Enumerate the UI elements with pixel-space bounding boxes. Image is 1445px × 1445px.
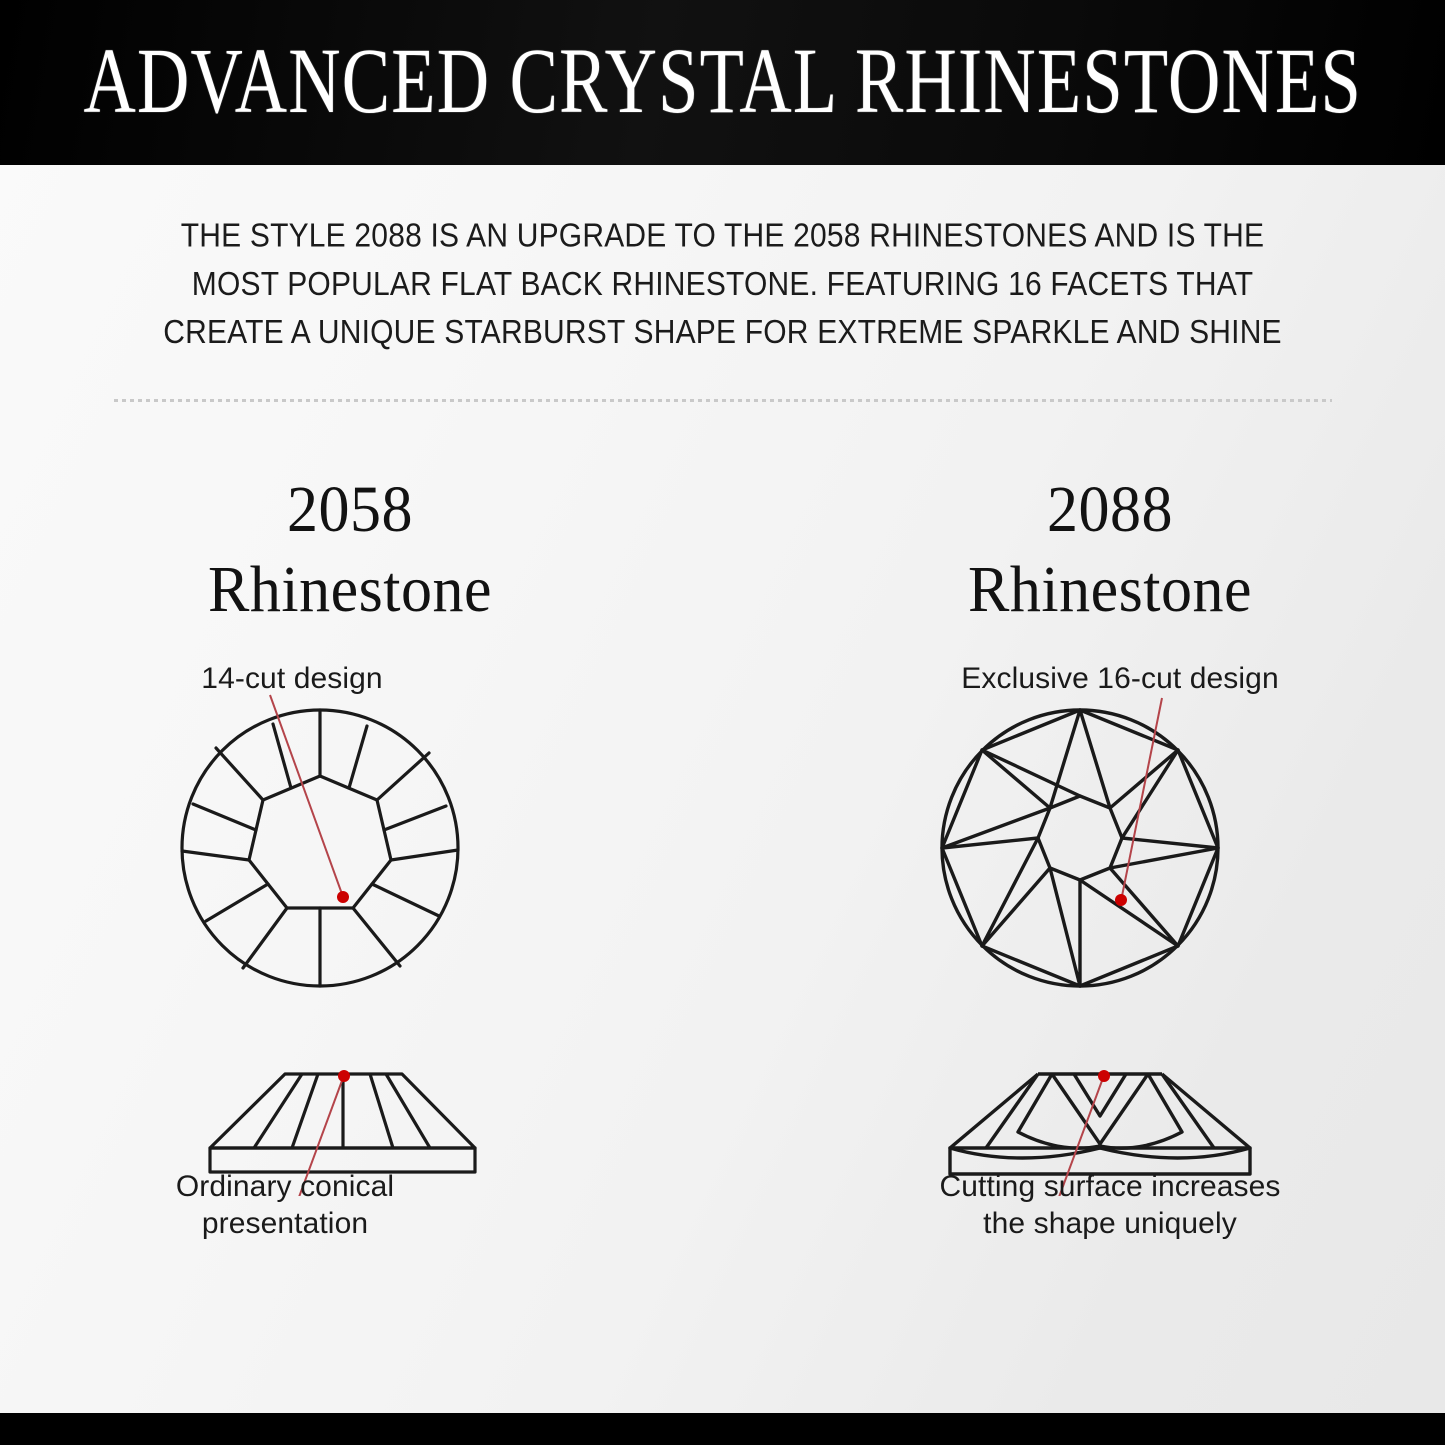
label-cutting-surface: Cutting surface increases the shape uniq… <box>810 1168 1410 1242</box>
section-divider <box>114 399 1332 402</box>
leader-marker-2088-side <box>1098 1070 1110 1082</box>
header-banner: ADVANCED CRYSTAL RHINESTONES <box>0 0 1445 165</box>
leader-line-2058-top <box>270 695 342 894</box>
label-exclusive-16-cut-design: Exclusive 16-cut design <box>840 660 1400 697</box>
diagram-2088: Exclusive 16-cut design <box>790 648 1430 1258</box>
leader-line-2088-top <box>1122 698 1162 896</box>
footer-bar <box>0 1413 1445 1445</box>
column-title-2058: 2058 Rhinestone <box>30 470 670 630</box>
intro-line-2: MOST POPULAR FLAT BACK RHINESTONE. FEATU… <box>0 260 1445 308</box>
intro-line-1: THE STYLE 2088 IS AN UPGRADE TO THE 2058… <box>0 212 1445 260</box>
diagram-2058: 14-cut design <box>30 648 670 1258</box>
column-2058: 2058 Rhinestone 14-cut design <box>30 470 670 1258</box>
column-word-2058: Rhinestone <box>30 548 670 633</box>
intro-line-3: CREATE A UNIQUE STARBURST SHAPE FOR EXTR… <box>0 308 1445 356</box>
label-ordinary-conical-line2: presentation <box>202 1207 368 1240</box>
leader-marker-2058-side <box>338 1070 350 1082</box>
leader-marker-2088-top <box>1115 894 1127 906</box>
column-word-2088: Rhinestone <box>790 548 1430 633</box>
column-title-2088: 2088 Rhinestone <box>790 470 1430 630</box>
label-14-cut-design: 14-cut design <box>62 660 522 697</box>
leader-marker-2058-top <box>337 891 349 903</box>
column-number-2058: 2058 <box>30 468 670 553</box>
label-cutting-surface-line2: the shape uniquely <box>983 1207 1237 1240</box>
column-2088: 2088 Rhinestone Exclusive 16-cut design <box>790 470 1430 1258</box>
column-number-2088: 2088 <box>790 468 1430 553</box>
label-ordinary-conical-line1: Ordinary conical <box>176 1170 394 1203</box>
inner-heptagon-2058 <box>249 776 391 908</box>
intro-paragraph: THE STYLE 2088 IS AN UPGRADE TO THE 2058… <box>0 212 1445 356</box>
label-cutting-surface-line1: Cutting surface increases <box>940 1170 1281 1203</box>
label-ordinary-conical: Ordinary conical presentation <box>50 1168 520 1242</box>
page-title: ADVANCED CRYSTAL RHINESTONES <box>83 36 1362 130</box>
